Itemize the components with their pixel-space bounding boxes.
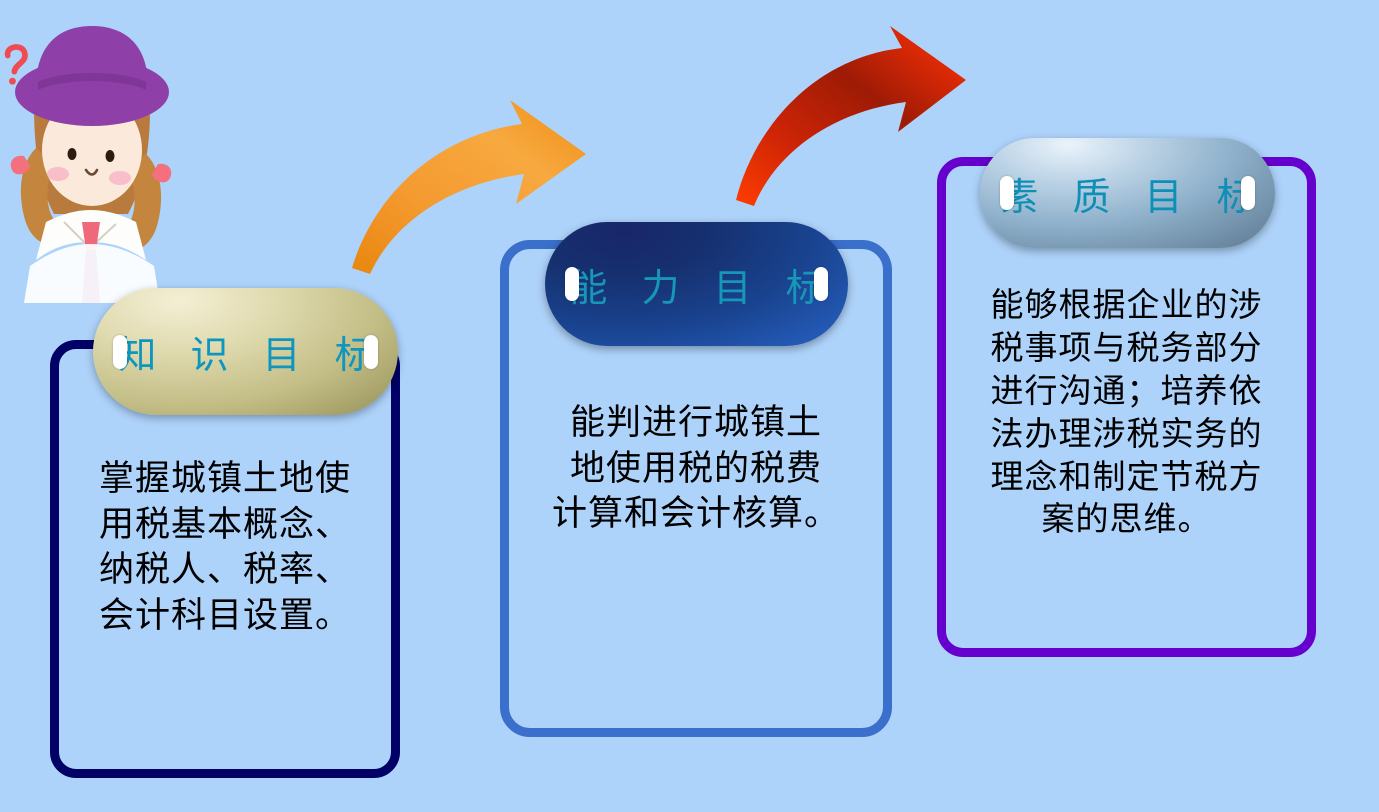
card-ability-body: 能判进行城镇土 地使用税的税费 计算和会计核算。 (509, 401, 883, 538)
card-knowledge-header-pill[interactable]: 知 识 目 标 (93, 288, 398, 415)
pill-tab-left-icon (565, 267, 579, 301)
pill-tab-left-icon (1000, 176, 1014, 210)
pill-tab-left-icon (113, 335, 127, 369)
pill-tab-right-icon (814, 267, 828, 301)
card-knowledge-body: 掌握城镇土地使 用税基本概念、 纳税人、税率、 会计科目设置。 (59, 457, 391, 639)
card-quality-body: 能够根据企业的涉 税事项与税务部分 进行沟通；培养依 法办理涉税实务的 理念和制… (946, 284, 1307, 541)
cartoon-girl-illustration (0, 8, 185, 303)
card-quality-header-pill[interactable]: 素 质 目 标 (980, 138, 1275, 248)
card-knowledge-title: 知 识 目 标 (107, 324, 383, 379)
pill-tab-right-icon (364, 335, 378, 369)
slide-canvas: 掌握城镇土地使 用税基本概念、 纳税人、税率、 会计科目设置。 知 识 目 标 … (0, 0, 1379, 812)
pill-tab-right-icon (1241, 176, 1255, 210)
card-ability-title: 能 力 目 标 (558, 257, 834, 312)
card-quality-title: 素 质 目 标 (989, 166, 1265, 221)
card-ability-header-pill[interactable]: 能 力 目 标 (545, 222, 848, 346)
